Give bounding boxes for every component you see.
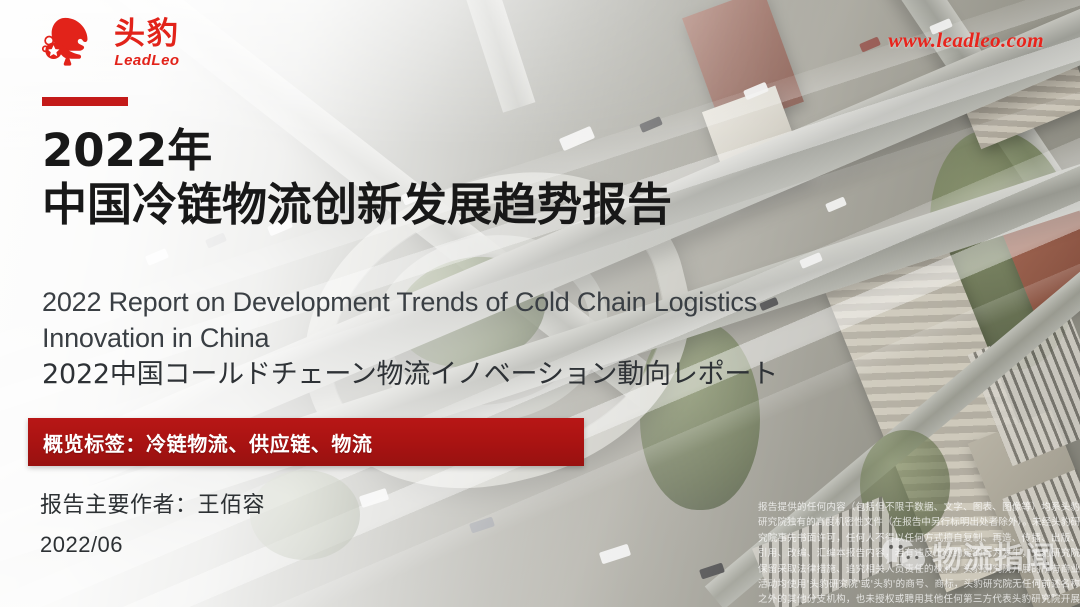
- wechat-account-name: 物流指闻: [932, 533, 1056, 577]
- leadleo-logo: 头豹 LeadLeo: [40, 12, 180, 74]
- subtitle-block: 2022 Report on Development Trends of Col…: [42, 285, 1022, 393]
- title-year: 2022年: [42, 126, 942, 176]
- report-author: 报告主要作者：王佰容: [40, 487, 265, 519]
- brand-name-cn: 头豹: [114, 19, 180, 50]
- report-cover-slide: 头豹 LeadLeo www.leadleo.com 2022年 中国冷链物流创…: [0, 0, 1080, 607]
- title-block: 2022年 中国冷链物流创新发展趋势报告: [42, 126, 942, 233]
- wechat-icon: [880, 536, 926, 574]
- accent-rule: [42, 97, 128, 106]
- wechat-watermark: 物流指闻: [880, 533, 1056, 577]
- report-date: 2022/06: [40, 532, 265, 558]
- website-url[interactable]: www.leadleo.com: [888, 28, 1044, 53]
- brand-name-en: LeadLeo: [114, 53, 179, 68]
- page-title: 中国冷链物流创新发展趋势报告: [42, 178, 942, 233]
- leopard-head-icon: [40, 12, 102, 74]
- subtitle-jp: 2022中国コールドチェーン物流イノベーション動向レポート: [42, 357, 1022, 393]
- subtitle-en-line2: Innovation in China: [42, 321, 1022, 357]
- subtitle-en-line1: 2022 Report on Development Trends of Col…: [42, 285, 1022, 321]
- overview-tags-text: 概览标签：冷链物流、供应链、物流: [43, 428, 373, 457]
- report-meta: 报告主要作者：王佰容 2022/06: [40, 487, 265, 558]
- overview-tags-bar: 概览标签：冷链物流、供应链、物流: [28, 418, 584, 466]
